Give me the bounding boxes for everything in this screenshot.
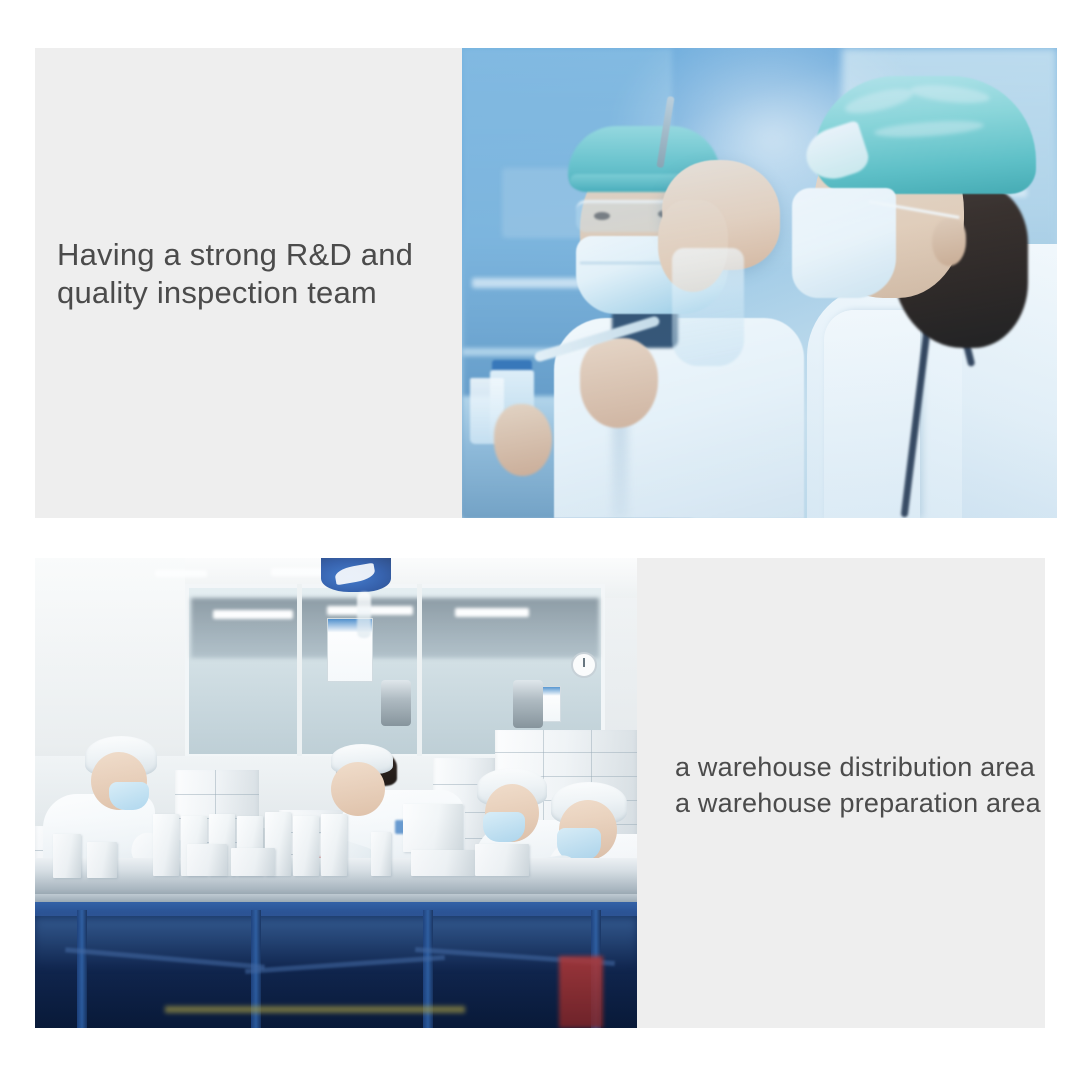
stainless-canister-1 xyxy=(381,680,411,726)
worker-1-face-mask xyxy=(109,782,149,810)
worker-3-face-mask xyxy=(483,812,525,842)
ceiling-hose xyxy=(357,592,371,638)
lab-flask-held xyxy=(672,248,744,366)
white-box xyxy=(153,814,179,876)
window-mullion-2 xyxy=(417,584,422,758)
white-box xyxy=(87,842,117,878)
window-mullion-1 xyxy=(297,584,302,758)
caption-panel-bottom: a warehouse distribution area a warehous… xyxy=(637,558,1045,1028)
white-box-flat xyxy=(411,850,475,876)
caption-warehouse: a warehouse distribution area a warehous… xyxy=(675,750,1075,821)
page-root: Having a strong R&D and quality inspecti… xyxy=(0,0,1080,1080)
technician-left-hand xyxy=(494,404,552,476)
ceiling-light-3 xyxy=(455,608,529,617)
white-box-flat xyxy=(187,844,227,876)
wall-clock-icon xyxy=(571,652,597,678)
worker-2-face xyxy=(331,762,385,816)
warehouse-packing-photo xyxy=(35,558,637,1028)
worker-red-shoe xyxy=(559,956,603,1028)
white-box-large xyxy=(403,804,463,852)
white-box-tall xyxy=(371,832,391,876)
blue-company-logo-sign xyxy=(321,558,391,592)
box-edge xyxy=(175,794,259,795)
section-warehouse: a warehouse distribution area a warehous… xyxy=(35,558,1045,1028)
caption-panel-top: Having a strong R&D and quality inspecti… xyxy=(35,48,465,518)
box-edge xyxy=(495,752,637,753)
white-box-flat xyxy=(231,848,275,876)
ceiling-light-1 xyxy=(213,610,293,619)
white-box-flat xyxy=(475,844,529,876)
technician-right-ear xyxy=(932,218,966,266)
section-rd-quality: Having a strong R&D and quality inspecti… xyxy=(35,48,1057,518)
table-leg-1 xyxy=(77,910,87,1028)
ceiling-light-5 xyxy=(155,570,207,577)
white-box xyxy=(321,814,347,876)
floor-marking-stripe xyxy=(165,1006,465,1013)
stainless-canister-2 xyxy=(513,680,543,728)
lab-quality-inspection-photo xyxy=(462,48,1057,518)
white-box xyxy=(293,816,319,876)
white-box xyxy=(53,834,81,878)
caption-rd-quality: Having a strong R&D and quality inspecti… xyxy=(57,236,457,313)
